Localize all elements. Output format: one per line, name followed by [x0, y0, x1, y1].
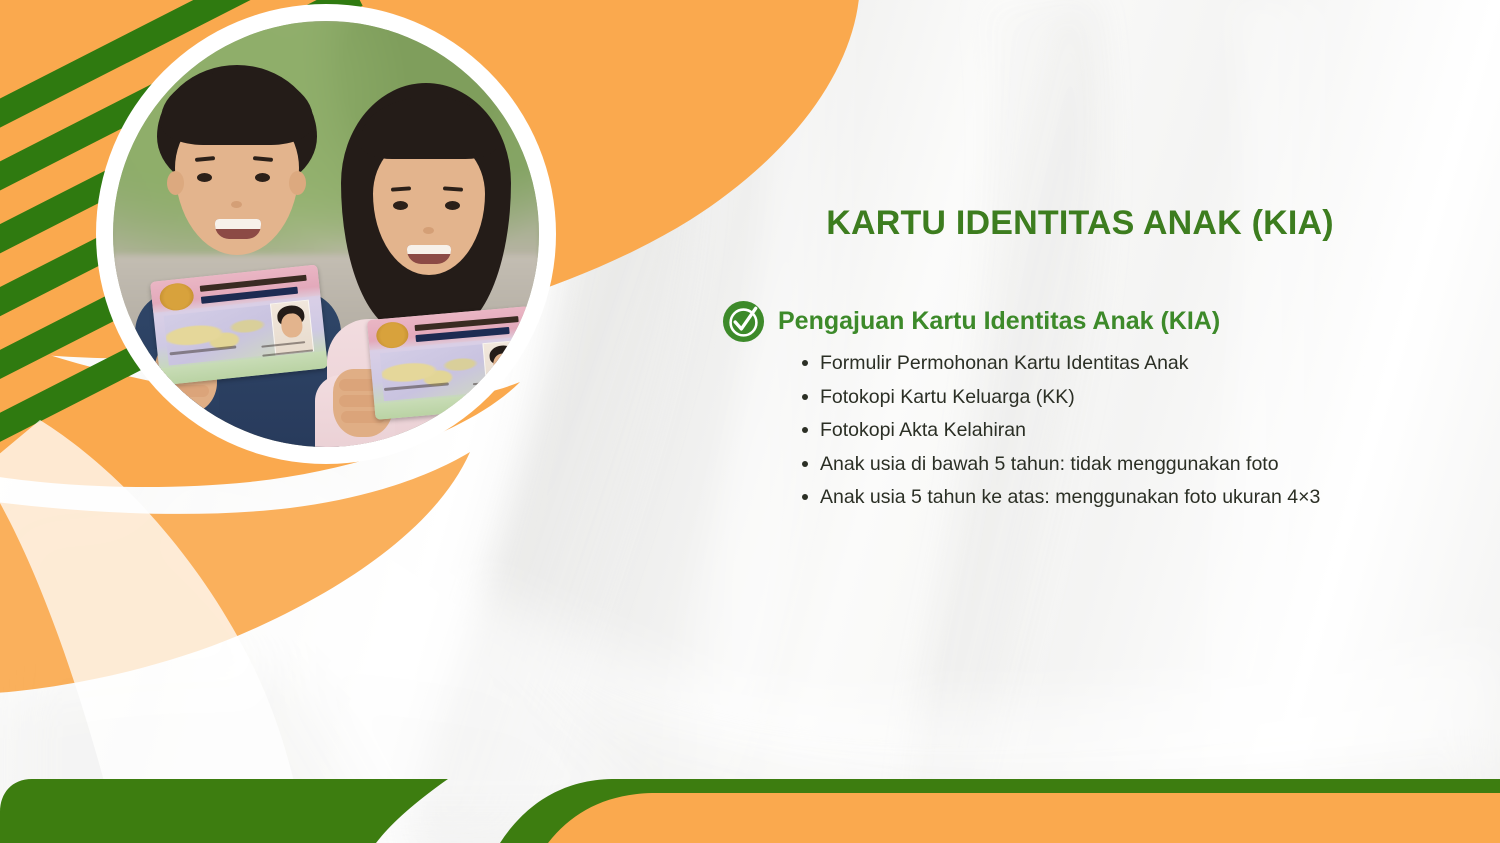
kia-card-boy	[150, 265, 328, 386]
kia-card-girl	[367, 306, 537, 420]
slide-canvas: KARTU IDENTITAS ANAK (KIA) Pengajuan Kar…	[0, 0, 1500, 843]
list-item: Fotokopi Akta Kelahiran	[820, 415, 1346, 447]
boy-figure	[131, 61, 341, 447]
list-item: Fotokopi Kartu Keluarga (KK)	[820, 382, 1346, 414]
children-holding-kia-cards-photo	[113, 21, 539, 447]
page-title: KARTU IDENTITAS ANAK (KIA)	[700, 204, 1460, 243]
check-circle-icon	[722, 300, 765, 343]
list-item: Anak usia di bawah 5 tahun: tidak menggu…	[820, 449, 1346, 481]
orange-footer-band	[548, 793, 1500, 843]
children-photo-circle-frame	[96, 4, 556, 464]
requirements-list: Formulir Permohonan Kartu Identitas Anak…	[800, 348, 1346, 516]
subheading-text: Pengajuan Kartu Identitas Anak (KIA)	[778, 307, 1220, 336]
subheading-row: Pengajuan Kartu Identitas Anak (KIA)	[722, 300, 1220, 343]
list-item: Formulir Permohonan Kartu Identitas Anak	[820, 348, 1346, 380]
list-item: Anak usia 5 tahun ke atas: menggunakan f…	[820, 482, 1346, 514]
green-footer-band-left	[0, 779, 448, 843]
footer-bands	[0, 778, 1500, 843]
